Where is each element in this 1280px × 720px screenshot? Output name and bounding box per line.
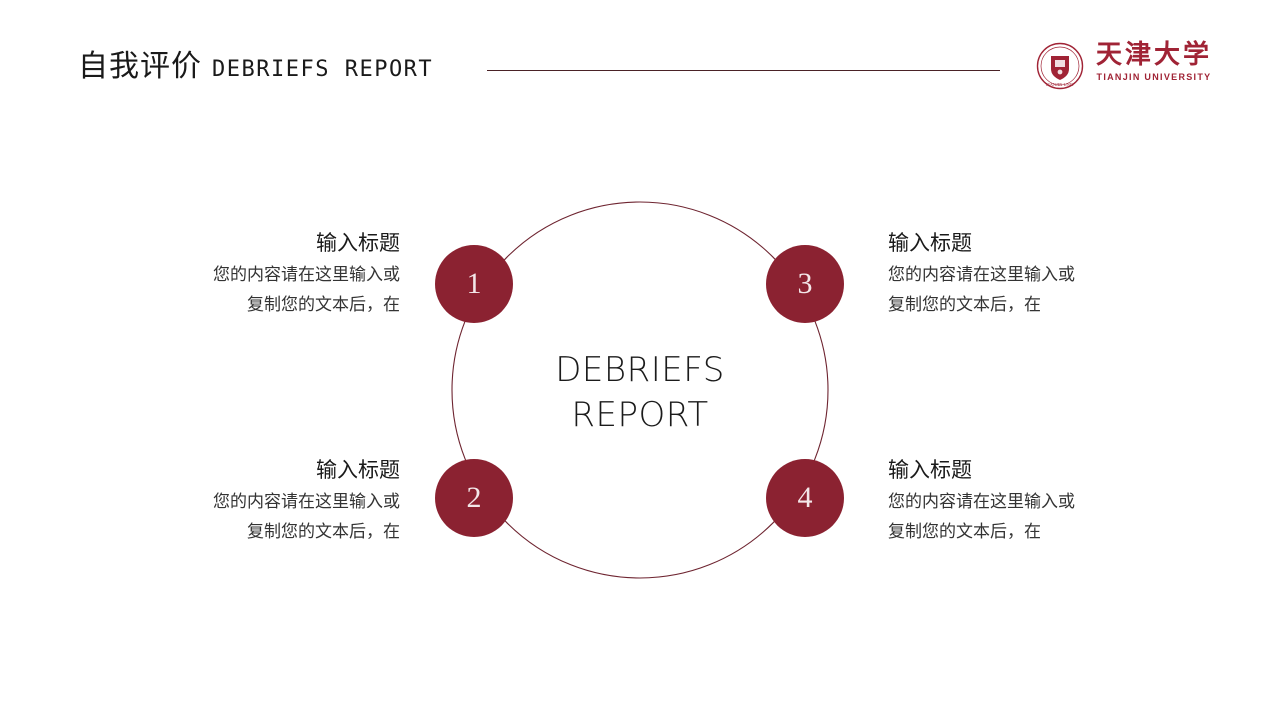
- text-block-4-line-2: 复制您的文本后，在: [888, 517, 1158, 547]
- text-block-1[interactable]: 输入标题 您的内容请在这里输入或 复制您的文本后，在: [130, 228, 400, 320]
- diagram-node-2-number: 2: [467, 483, 482, 513]
- diagram-center-label: DEBRIEFS REPORT: [500, 348, 780, 438]
- diagram-node-4-number: 4: [798, 483, 813, 513]
- center-label-line-2: REPORT: [500, 393, 780, 438]
- text-block-1-title: 输入标题: [130, 228, 400, 258]
- diagram-node-4[interactable]: 4: [766, 459, 844, 537]
- diagram-node-1-number: 1: [467, 269, 482, 299]
- text-block-3-line-1: 您的内容请在这里输入或: [888, 260, 1158, 290]
- text-block-2-title: 输入标题: [130, 455, 400, 485]
- text-block-1-line-1: 您的内容请在这里输入或: [130, 260, 400, 290]
- diagram-node-3[interactable]: 3: [766, 245, 844, 323]
- center-label-line-1: DEBRIEFS: [500, 348, 780, 393]
- diagram-node-1[interactable]: 1: [435, 245, 513, 323]
- text-block-4-title: 输入标题: [888, 455, 1158, 485]
- text-block-2-line-1: 您的内容请在这里输入或: [130, 487, 400, 517]
- circular-diagram: DEBRIEFS REPORT 1 2 3 4 输入标题 您的内容请在这里输入或…: [0, 0, 1280, 720]
- text-block-2[interactable]: 输入标题 您的内容请在这里输入或 复制您的文本后，在: [130, 455, 400, 547]
- text-block-4-line-1: 您的内容请在这里输入或: [888, 487, 1158, 517]
- text-block-1-line-2: 复制您的文本后，在: [130, 290, 400, 320]
- text-block-3-title: 输入标题: [888, 228, 1158, 258]
- diagram-node-2[interactable]: 2: [435, 459, 513, 537]
- text-block-2-line-2: 复制您的文本后，在: [130, 517, 400, 547]
- text-block-3[interactable]: 输入标题 您的内容请在这里输入或 复制您的文本后，在: [888, 228, 1158, 320]
- text-block-3-line-2: 复制您的文本后，在: [888, 290, 1158, 320]
- diagram-node-3-number: 3: [798, 269, 813, 299]
- text-block-4[interactable]: 输入标题 您的内容请在这里输入或 复制您的文本后，在: [888, 455, 1158, 547]
